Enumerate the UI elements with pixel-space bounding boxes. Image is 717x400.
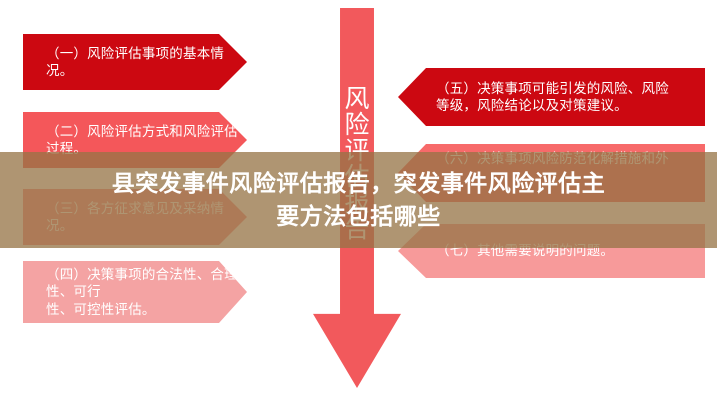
- flow-item-1-label: （一）风险评估事项的基本情况。: [46, 45, 247, 80]
- flow-item-1[interactable]: （一）风险评估事项的基本情况。: [23, 34, 247, 90]
- overlay-title-line-1: 县突发事件风险评估报告，突发事件风险评估主: [112, 167, 606, 200]
- diagram-canvas: （一）风险评估事项的基本情况。 （二）风险评估方式和风险评估过程。 （三）各方征…: [0, 0, 717, 400]
- overlay-title-line-2: 要方法包括哪些: [276, 200, 441, 233]
- flow-item-4-label: （四）决策事项的合法性、合理性、可行 性、可控性评估。: [46, 266, 247, 318]
- flow-item-5-label: （五）决策事项可能引发的风险、风险 等级，风险结论以及对策建议。: [436, 80, 669, 115]
- overlay-title: 县突发事件风险评估报告，突发事件风险评估主 要方法包括哪些: [0, 152, 717, 248]
- flow-item-4[interactable]: （四）决策事项的合法性、合理性、可行 性、可控性评估。: [23, 261, 247, 323]
- flow-item-5[interactable]: （五）决策事项可能引发的风险、风险 等级，风险结论以及对策建议。: [398, 68, 705, 126]
